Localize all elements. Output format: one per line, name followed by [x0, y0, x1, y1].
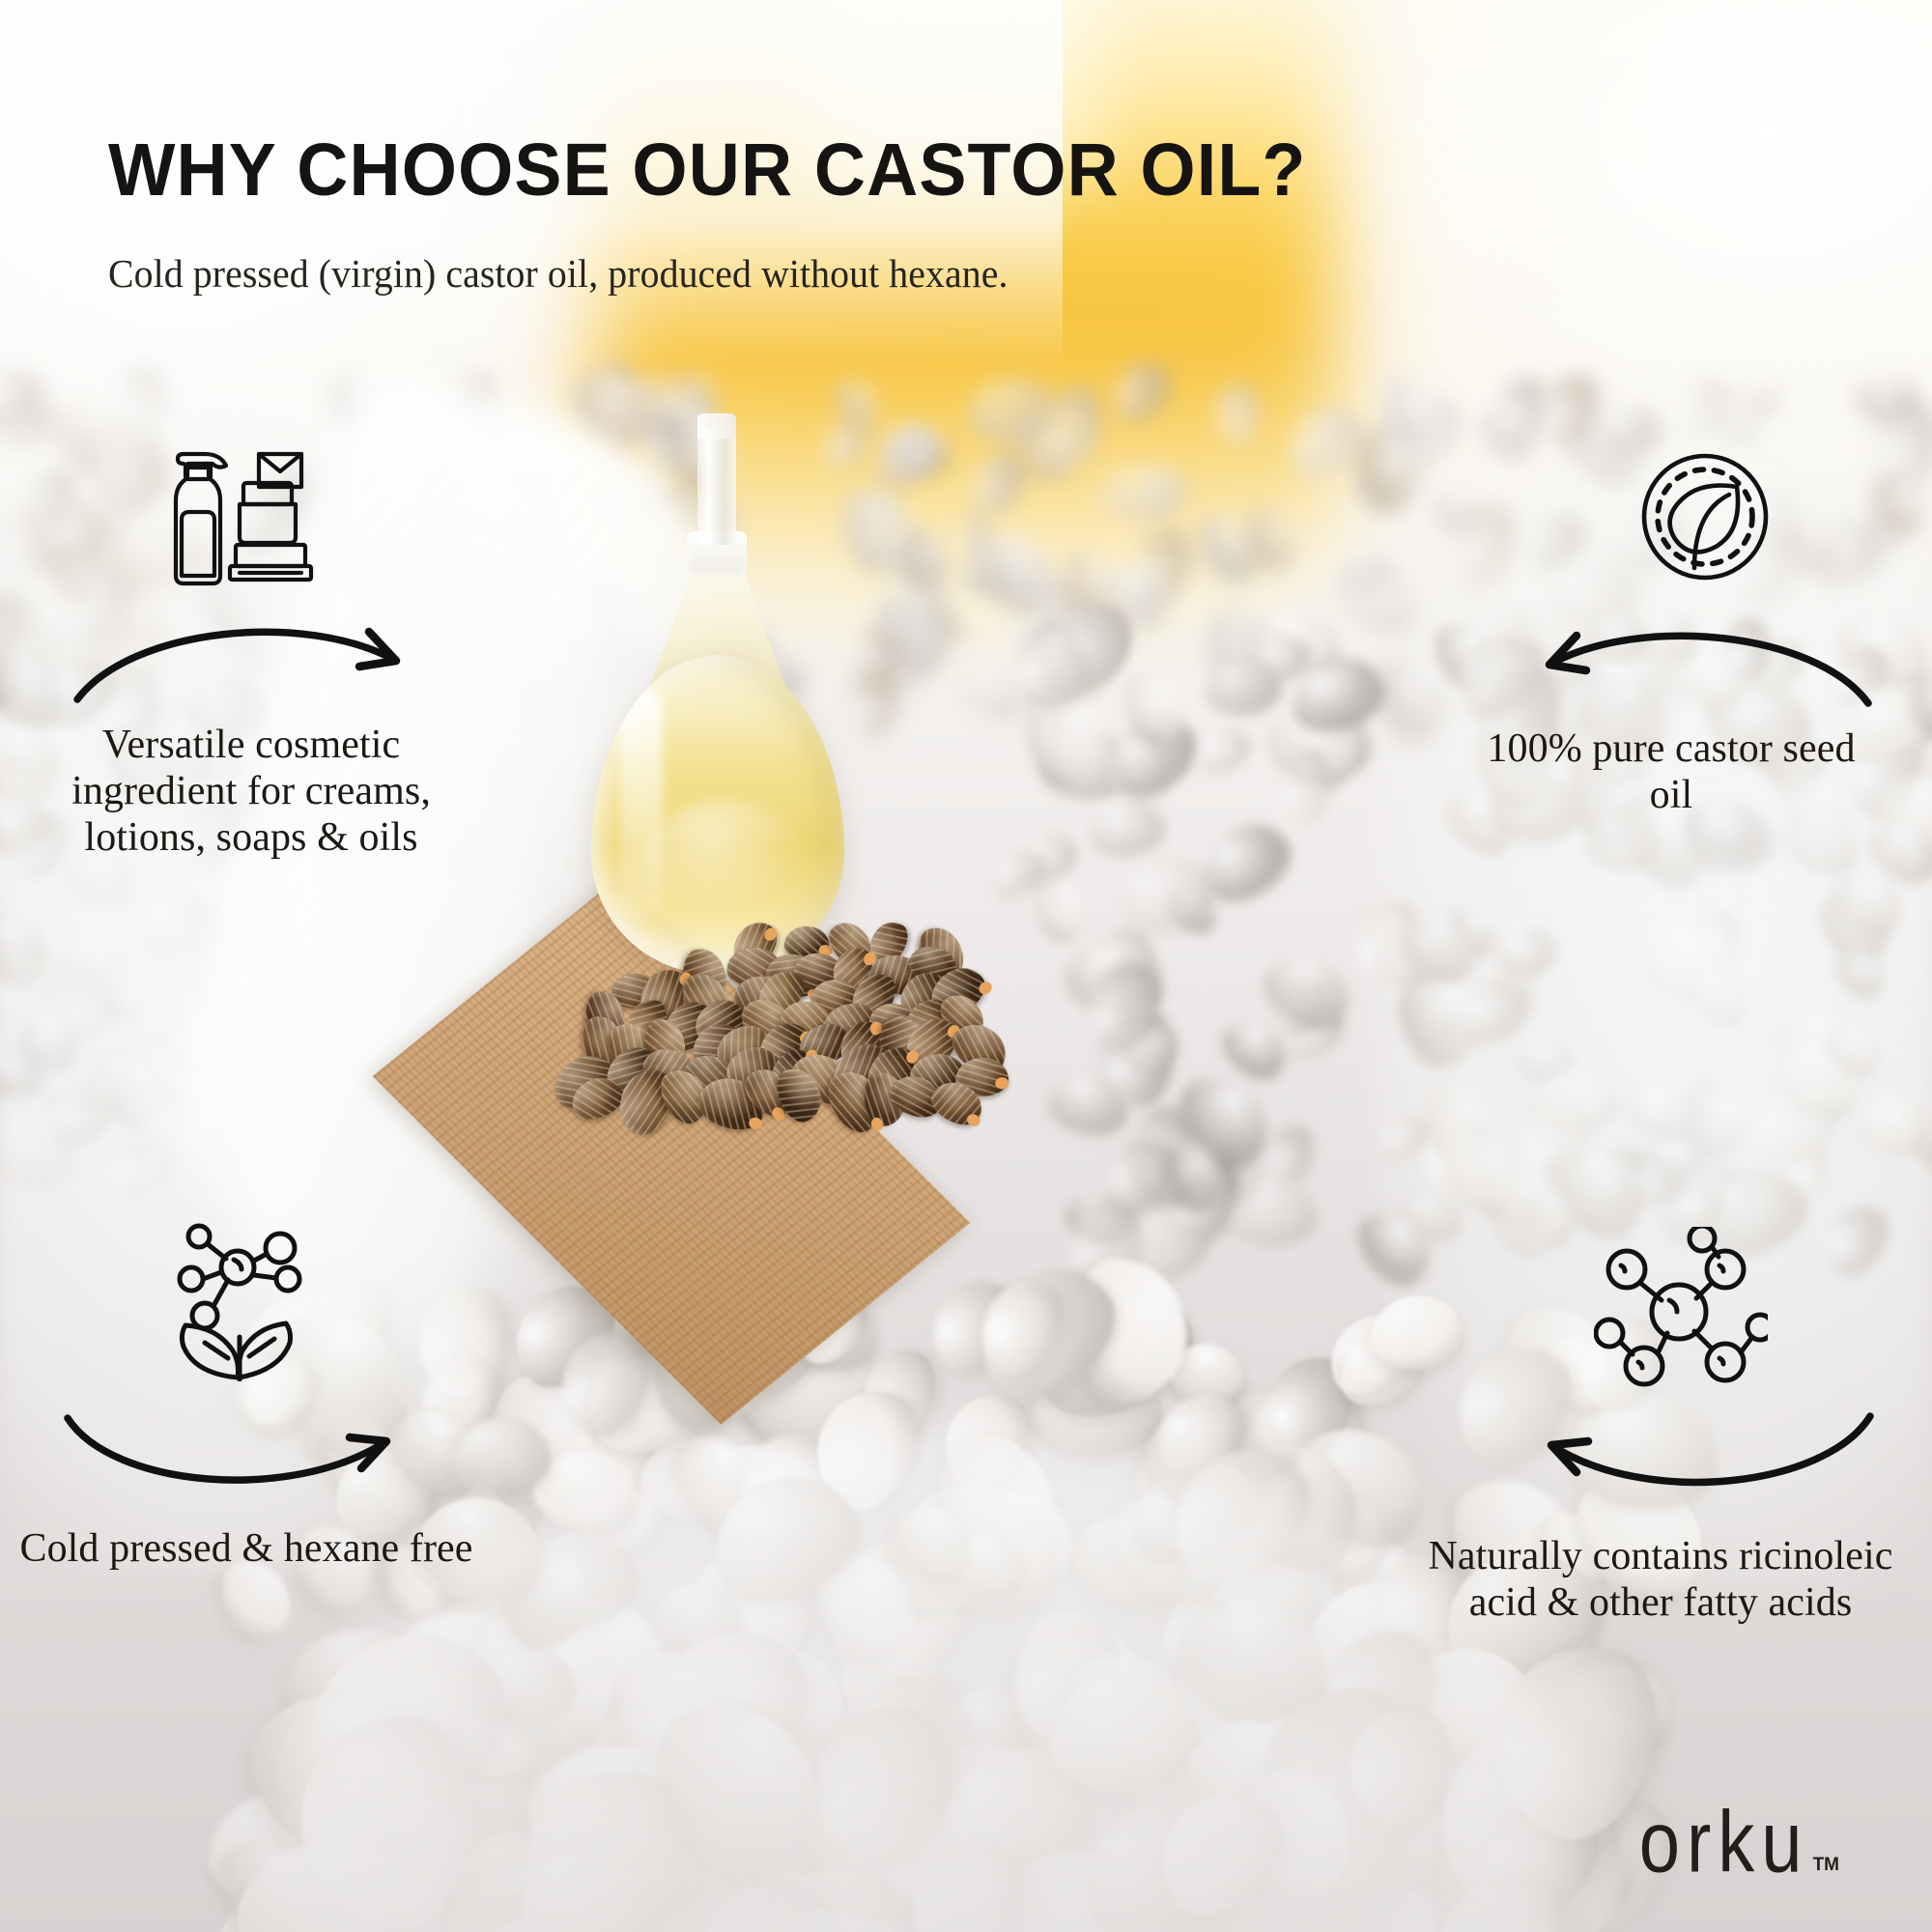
feature-caption-cold-pressed-hexane-free: Cold pressed & hexane free	[19, 1526, 473, 1573]
feature-caption-pure-castor-seed-oil: 100% pure castor seed oil	[1468, 726, 1874, 819]
product-photo	[415, 406, 1150, 1236]
castor-seed-pile	[531, 908, 1014, 1150]
curved-arrow-right	[54, 1399, 421, 1510]
brand-name: orku	[1639, 1804, 1809, 1882]
bottle-neck	[697, 427, 736, 545]
feature-caption-ricinoleic-acid: Naturally contains ricinoleic acid & oth…	[1424, 1534, 1897, 1627]
page-title: WHY CHOOSE OUR CASTOR OIL?	[108, 133, 1400, 208]
bottle-cap	[697, 413, 736, 439]
header: WHY CHOOSE OUR CASTOR OIL? Cold pressed …	[108, 133, 1461, 297]
page-subtitle: Cold pressed (virgin) castor oil, produc…	[108, 250, 1420, 297]
brand-logo: orku TM	[1639, 1816, 1839, 1882]
curved-arrow-left	[1515, 609, 1882, 720]
eco-leaf-badge-icon	[1633, 444, 1777, 594]
molecule-structure-icon	[1594, 1227, 1768, 1396]
trademark-symbol: TM	[1813, 1855, 1839, 1876]
feature-caption-versatile-cosmetic: Versatile cosmetic ingredient for creams…	[19, 723, 483, 862]
curved-arrow-left	[1517, 1401, 1884, 1512]
infographic-poster: WHY CHOOSE OUR CASTOR OIL? Cold pressed …	[0, 0, 1932, 1932]
molecule-leaf-icon	[162, 1217, 317, 1386]
cosmetic-bottles-icon	[143, 437, 327, 606]
curved-arrow-right	[64, 605, 431, 716]
